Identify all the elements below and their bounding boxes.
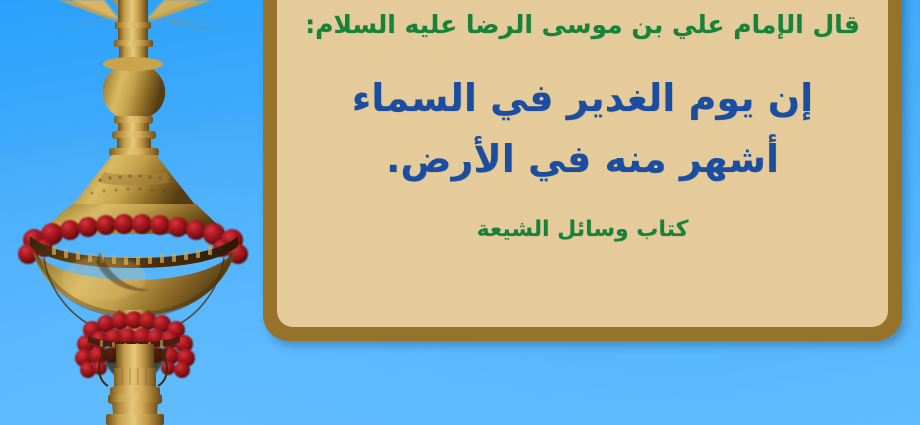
quote-line-2: أشهر منه في الأرض. <box>299 129 866 191</box>
speaker-attribution: قال الإمام علي بن موسى الرضا عليه السلام… <box>299 10 866 40</box>
minaret-finial-photo <box>0 0 270 425</box>
quote-card: قال الإمام علي بن موسى الرضا عليه السلام… <box>263 0 902 341</box>
quote-line-1: إن يوم الغدير في السماء <box>299 68 866 130</box>
minaret-illustration <box>0 0 270 425</box>
quote-card-inner: قال الإمام علي بن موسى الرضا عليه السلام… <box>277 0 888 327</box>
source-attribution: كتاب وسائل الشيعة <box>477 217 689 243</box>
quote-body: إن يوم الغدير في السماء أشهر منه في الأر… <box>299 68 866 191</box>
